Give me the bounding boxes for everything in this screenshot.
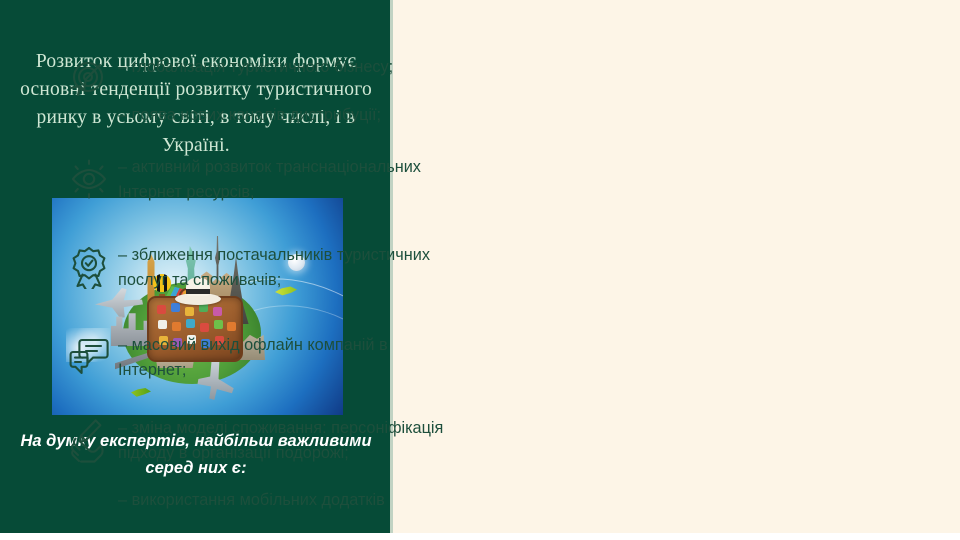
list-item: – масовий вихід офлайн компаній в Інтерн… (60, 333, 560, 382)
suitcase-sticker (158, 320, 167, 329)
bottom-white-strip (0, 533, 960, 540)
list-item-line: – зміна моделі споживання: персоніфікаці… (118, 416, 560, 465)
suitcase-sticker (213, 307, 222, 316)
list-item: – активний розвиток транснаціональних Ін… (60, 155, 560, 204)
eye-icon (60, 155, 118, 201)
list-item-text-group: – масовий вихід офлайн компаній в Інтерн… (118, 333, 560, 382)
suitcase-sticker (227, 322, 236, 331)
award-badge-icon (60, 243, 118, 289)
chat-bubbles-icon (60, 333, 118, 379)
list-item: – зміна моделі споживання: персоніфікаці… (60, 416, 560, 513)
suitcase-sticker (214, 320, 223, 329)
list-item-line: – активний розвиток транснаціональних Ін… (118, 155, 560, 204)
list-item-text-group: – глобалізація туристичного бізнесу; – п… (118, 55, 560, 127)
list-item-text-group: – активний розвиток транснаціональних Ін… (118, 155, 560, 204)
hand-pen-icon (60, 416, 118, 464)
suitcase-sticker (171, 303, 180, 312)
suitcase-sticker (200, 323, 209, 332)
suitcase-sticker (157, 305, 166, 314)
parrot-icon-2 (131, 388, 151, 399)
list-item-text-group: – зміна моделі споживання: персоніфікаці… (118, 416, 560, 513)
suitcase-sticker (172, 322, 181, 331)
list-item: – глобалізація туристичного бізнесу; – п… (60, 55, 560, 127)
list-item: – зближення постачальників туристичних п… (60, 243, 560, 292)
list-item-line: – поява нових каналів дистрибуції; (118, 103, 560, 128)
list-item-line: – масовий вихід офлайн компаній в Інтерн… (118, 333, 560, 382)
suitcase-sticker (185, 307, 194, 316)
slide-canvas: Розвиток цифрової економіки формує основ… (0, 0, 960, 540)
travel-collage-image (52, 198, 343, 415)
suitcase-sticker (186, 319, 195, 328)
list-item-line: – зближення постачальників туристичних п… (118, 243, 560, 292)
target-arrow-icon (60, 55, 118, 101)
list-item-line: – глобалізація туристичного бізнесу; (118, 55, 560, 80)
list-item-text-group: – зближення постачальників туристичних п… (118, 243, 560, 292)
list-item-line: – використання мобільних додатків (118, 488, 560, 513)
